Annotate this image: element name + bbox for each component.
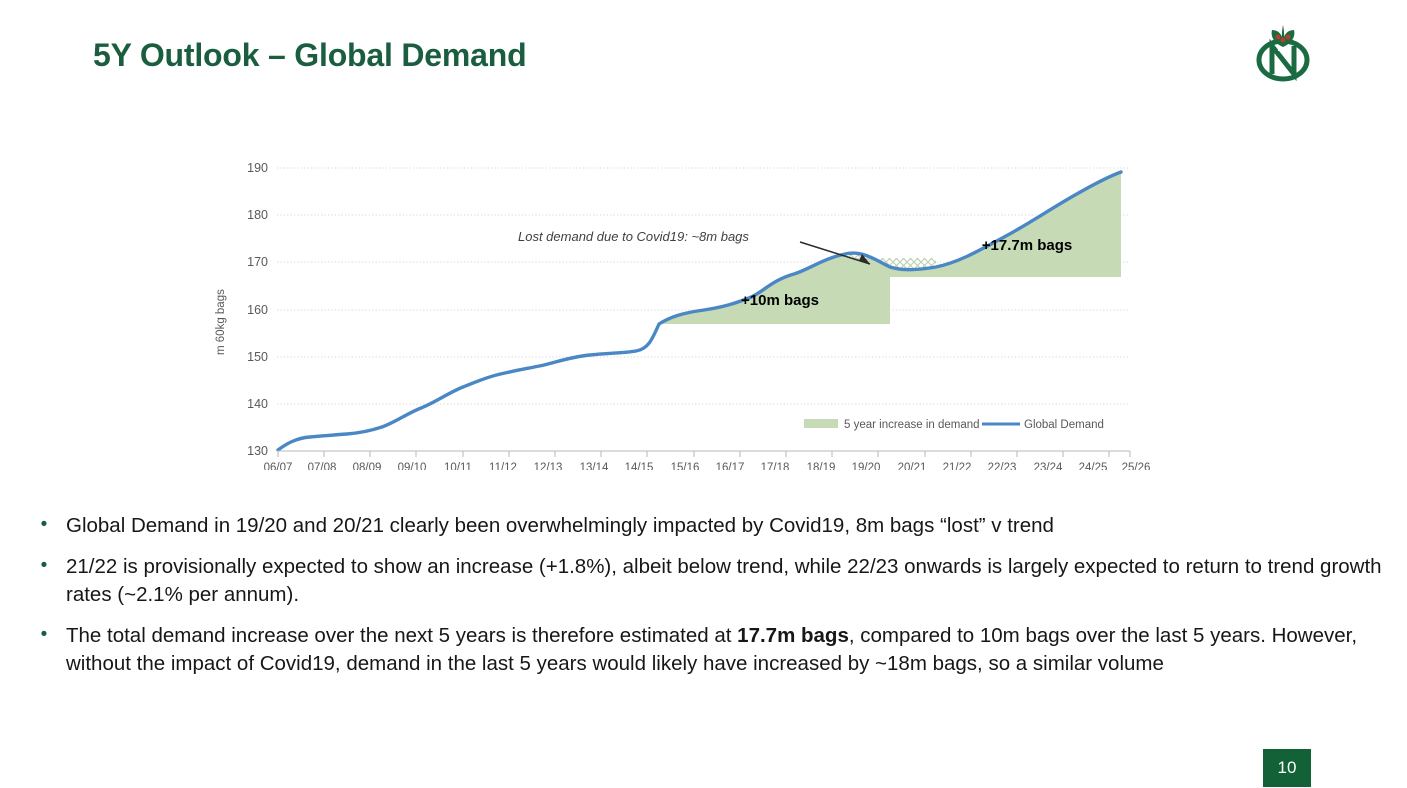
bullet-marker-icon: • xyxy=(22,622,66,648)
x-tick-14: 20/21 xyxy=(898,462,927,470)
y-tick-180: 180 xyxy=(247,208,268,222)
chart-gridlines xyxy=(277,168,1130,404)
x-tick-18: 24/25 xyxy=(1079,462,1108,470)
y-tick-190: 190 xyxy=(247,161,268,175)
bullet-list: • Global Demand in 19/20 and 20/21 clear… xyxy=(22,512,1392,691)
x-tick-9: 15/16 xyxy=(671,462,700,470)
global-demand-line xyxy=(278,172,1121,450)
legend-swatch-area xyxy=(804,419,838,428)
bullet-marker-icon: • xyxy=(22,512,66,538)
global-demand-chart: 190 180 170 160 150 140 130 m 60kg bags xyxy=(200,150,1160,470)
x-tick-12: 18/19 xyxy=(807,462,836,470)
bullet-covid-impact: • Global Demand in 19/20 and 20/21 clear… xyxy=(22,512,1392,540)
chart-legend: 5 year increase in demand Global Demand xyxy=(804,419,1104,431)
x-tick-2: 08/09 xyxy=(353,462,382,470)
x-tick-19: 25/26 xyxy=(1122,462,1151,470)
y-tick-150: 150 xyxy=(247,350,268,364)
past-5y-increase-label: +10m bags xyxy=(741,292,819,309)
bullet-marker-icon: • xyxy=(22,553,66,579)
x-tick-0: 06/07 xyxy=(264,462,293,470)
y-axis-title: m 60kg bags xyxy=(215,289,227,355)
x-tick-8: 14/15 xyxy=(625,462,654,470)
bullet-total-increase-text: The total demand increase over the next … xyxy=(66,622,1392,678)
bullet-total-increase: • The total demand increase over the nex… xyxy=(22,622,1392,678)
x-tick-1: 07/08 xyxy=(308,462,337,470)
y-tick-170: 170 xyxy=(247,255,268,269)
x-tick-11: 17/18 xyxy=(761,462,790,470)
slide-root: 5Y Outlook – Global Demand xyxy=(0,0,1407,788)
x-tick-13: 19/20 xyxy=(852,462,881,470)
nedcoffee-n-leaf-logo xyxy=(1252,24,1314,82)
x-tick-17: 23/24 xyxy=(1034,462,1063,470)
x-tick-6: 12/13 xyxy=(534,462,563,470)
chart-x-axis: 06/07 07/08 08/09 09/10 10/11 11/12 12/1… xyxy=(264,451,1151,470)
bullet-2122-outlook: • 21/22 is provisionally expected to sho… xyxy=(22,553,1392,609)
x-tick-5: 11/12 xyxy=(489,462,517,470)
y-tick-130: 130 xyxy=(247,444,268,458)
x-tick-3: 09/10 xyxy=(398,462,427,470)
x-tick-10: 16/17 xyxy=(716,462,745,470)
next-5y-increase-label: +17.7m bags xyxy=(982,237,1072,254)
covid-lost-demand-callout-text: Lost demand due to Covid19: ~8m bags xyxy=(518,229,749,244)
legend-label-area: 5 year increase in demand xyxy=(844,419,980,431)
y-tick-140: 140 xyxy=(247,397,268,411)
x-tick-15: 21/22 xyxy=(943,462,972,470)
x-tick-4: 10/11 xyxy=(444,462,472,470)
legend-label-line: Global Demand xyxy=(1024,419,1104,431)
bullet-2122-outlook-text: 21/22 is provisionally expected to show … xyxy=(66,553,1392,609)
bullet-covid-impact-text: Global Demand in 19/20 and 20/21 clearly… xyxy=(66,512,1392,540)
y-tick-160: 160 xyxy=(247,303,268,317)
page-title: 5Y Outlook – Global Demand xyxy=(93,37,526,74)
x-tick-7: 13/14 xyxy=(580,462,609,470)
chart-y-axis: 190 180 170 160 150 140 130 xyxy=(247,161,268,458)
page-number-badge: 10 xyxy=(1263,749,1311,787)
x-tick-16: 22/23 xyxy=(988,462,1017,470)
